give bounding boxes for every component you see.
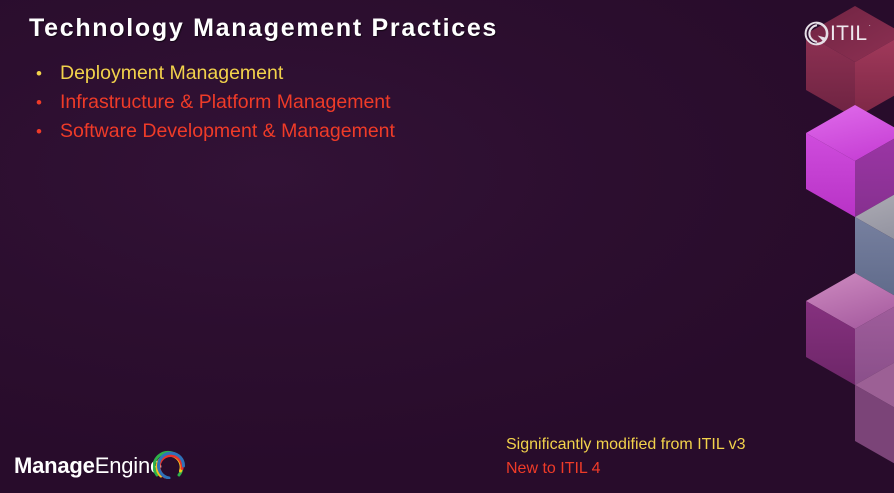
itil-wordmark: ITIL	[830, 23, 867, 44]
list-item[interactable]: • Deployment Management	[31, 64, 671, 93]
list-item-label: Deployment Management	[60, 64, 283, 84]
list-item[interactable]: • Software Development & Management	[31, 122, 671, 151]
itil-logo: ITIL ·	[804, 20, 870, 46]
manageengine-swoosh-icon	[162, 453, 187, 479]
itil-circle-swoosh-icon	[804, 21, 829, 46]
legend-line-modified: Significantly modified from ITIL v3	[506, 433, 746, 457]
slate-blue-cube	[855, 189, 894, 301]
bullet-marker-icon: •	[31, 94, 60, 111]
practice-list: • Deployment Management • Infrastructure…	[31, 64, 671, 151]
page-title: Technology Management Practices	[29, 14, 498, 43]
list-item-label: Infrastructure & Platform Management	[60, 93, 391, 113]
manageengine-logo: Manage Engine	[14, 451, 187, 481]
bullet-marker-icon: •	[31, 123, 60, 140]
manageengine-engine-word: Engine	[95, 455, 162, 477]
lower-mauve-cube	[855, 357, 894, 469]
magenta-cube	[806, 105, 894, 217]
decorative-cube-column	[790, 0, 894, 493]
mauve-cube	[806, 273, 894, 385]
slide-canvas: Technology Management Practices ITIL · •…	[0, 0, 894, 493]
list-item[interactable]: • Infrastructure & Platform Management	[31, 93, 671, 122]
list-item-label: Software Development & Management	[60, 122, 395, 142]
bullet-marker-icon: •	[31, 65, 60, 82]
itil-trademark-mark: ·	[868, 21, 871, 30]
legend: Significantly modified from ITIL v3 New …	[506, 433, 746, 481]
legend-line-new: New to ITIL 4	[506, 457, 746, 481]
manageengine-manage-word: Manage	[14, 455, 95, 477]
